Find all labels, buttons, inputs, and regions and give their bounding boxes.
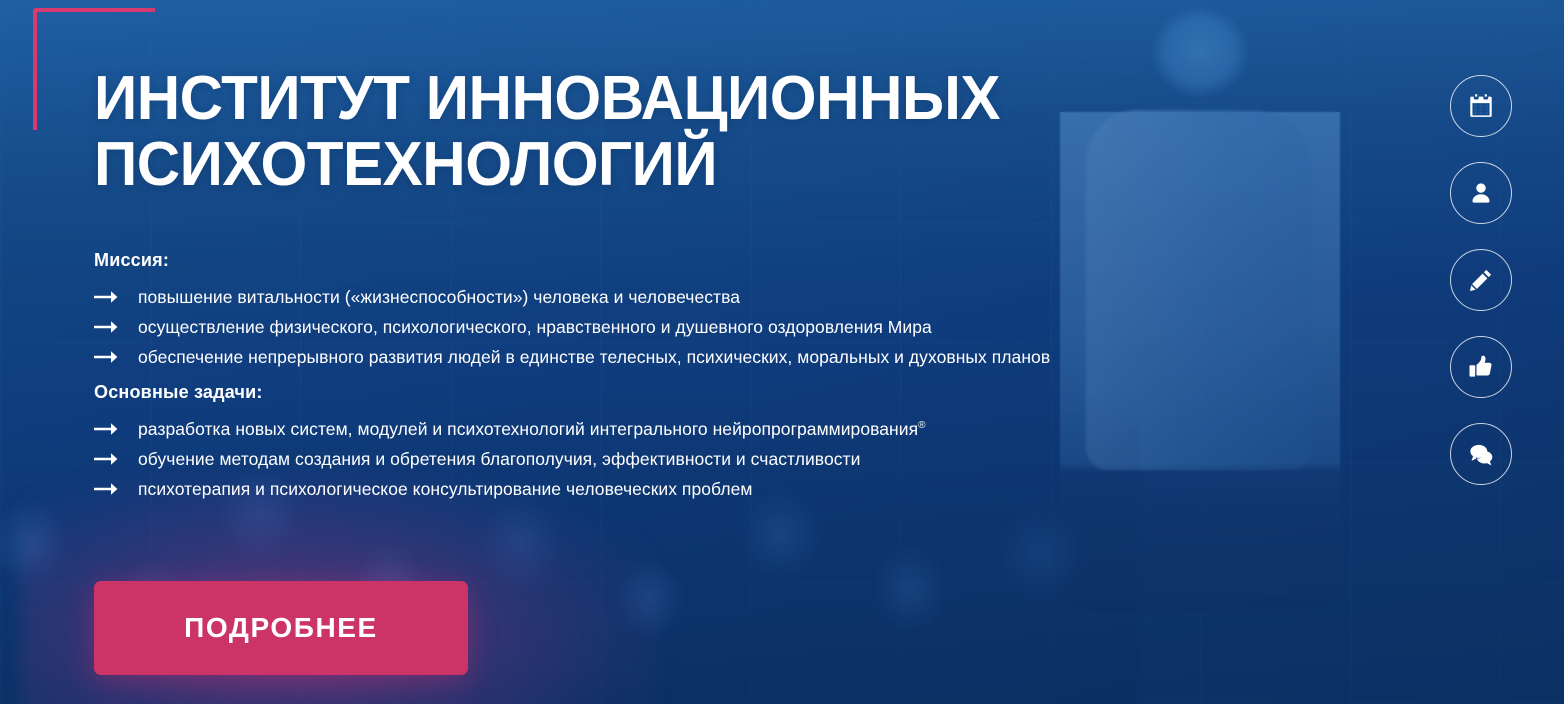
arrow-right-icon <box>94 346 120 370</box>
chat-icon <box>1469 442 1494 467</box>
learn-more-button[interactable]: ПОДРОБНЕЕ <box>94 581 468 675</box>
tasks-item: разработка новых систем, модулей и психо… <box>138 417 926 442</box>
tasks-list: разработка новых систем, модулей и психо… <box>94 417 926 502</box>
arrow-right-icon <box>94 418 120 442</box>
rail-item-like[interactable] <box>1450 336 1512 398</box>
tasks-item-text: психотерапия и психологическое консульти… <box>138 477 752 502</box>
rail-item-calendar[interactable] <box>1450 75 1512 137</box>
list-item: обеспечение непрерывного развития людей … <box>94 345 1050 370</box>
arrow-right-icon <box>94 286 120 310</box>
thumbs-up-icon <box>1469 355 1493 379</box>
pencil-icon <box>1469 268 1493 292</box>
list-item: психотерапия и психологическое консульти… <box>94 477 926 502</box>
mission-item-text: повышение витальности («жизнеспособности… <box>138 285 740 310</box>
list-item: повышение витальности («жизнеспособности… <box>94 285 1050 310</box>
list-item: осуществление физического, психологическ… <box>94 315 1050 340</box>
rail-item-edit[interactable] <box>1450 249 1512 311</box>
mission-list: повышение витальности («жизнеспособности… <box>94 285 1050 370</box>
arrow-right-icon <box>94 448 120 472</box>
page-title: ИНСТИТУТ ИННОВАЦИОННЫХ ПСИХОТЕХНОЛОГИЙ <box>94 66 1000 198</box>
rail-item-chat[interactable] <box>1450 423 1512 485</box>
mission-item-text: осуществление физического, психологическ… <box>138 315 932 340</box>
registered-trademark-mark: ® <box>918 420 925 431</box>
rail-item-profile[interactable] <box>1450 162 1512 224</box>
arrow-right-icon <box>94 316 120 340</box>
tasks-block: Основные задачи: разработка новых систем… <box>94 382 926 507</box>
hero-content: ИНСТИТУТ ИННОВАЦИОННЫХ ПСИХОТЕХНОЛОГИЙ М… <box>94 0 1294 704</box>
arrow-right-icon <box>94 478 120 502</box>
tasks-title: Основные задачи: <box>94 382 926 403</box>
tasks-item-text: обучение методам создания и обретения бл… <box>138 447 860 472</box>
hero-banner: ИНСТИТУТ ИННОВАЦИОННЫХ ПСИХОТЕХНОЛОГИЙ М… <box>0 0 1564 704</box>
tasks-item-text: разработка новых систем, модулей и психо… <box>138 419 918 439</box>
user-icon <box>1469 181 1493 205</box>
list-item: обучение методам создания и обретения бл… <box>94 447 926 472</box>
mission-title: Миссия: <box>94 250 1050 271</box>
side-icon-rail <box>1450 75 1512 485</box>
list-item: разработка новых систем, модулей и психо… <box>94 417 926 442</box>
calendar-icon <box>1468 93 1494 119</box>
mission-item-text: обеспечение непрерывного развития людей … <box>138 345 1050 370</box>
mission-block: Миссия: повышение витальности («жизнеспо… <box>94 250 1050 375</box>
